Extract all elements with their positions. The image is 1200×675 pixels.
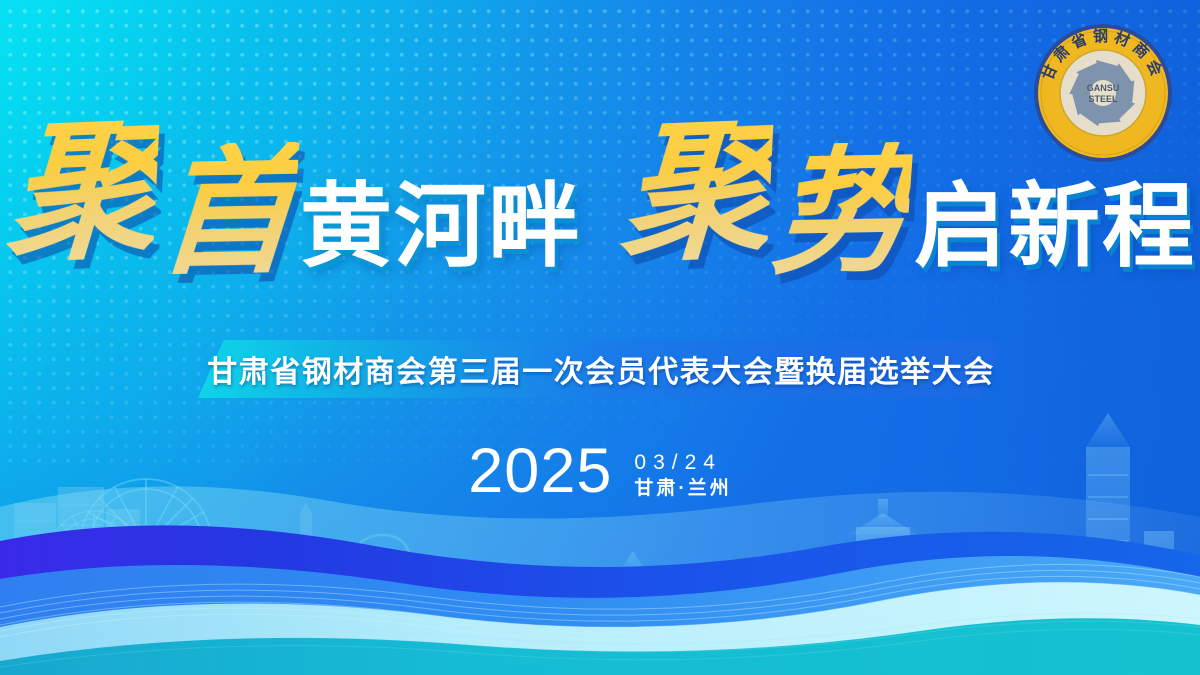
headline-calligraphy-2b: 势	[764, 142, 914, 282]
headline-block-2: 启新程	[914, 181, 1196, 273]
headline-calligraphy-1a: 聚	[0, 114, 160, 270]
headline: 聚 首 黄河畔 聚 势 启新程	[0, 72, 1200, 312]
event-location: 甘肃·兰州	[634, 479, 731, 498]
event-date-block: 2025 03/24 甘肃·兰州	[0, 440, 1200, 503]
headline-phrase-2: 聚 势 启新程	[618, 117, 1196, 267]
subtitle-text: 甘肃省钢材商会第三届一次会员代表大会暨换届选举大会	[198, 340, 1004, 398]
conference-poster: GANSU STEEL 甘肃省钢材商会 聚 首 黄河畔 聚 势 启新程 甘肃省钢…	[0, 0, 1200, 675]
event-year: 2025	[468, 440, 612, 503]
subtitle-banner: 甘肃省钢材商会第三届一次会员代表大会暨换届选举大会	[198, 340, 1004, 398]
headline-phrase-1: 聚 首 黄河畔	[4, 117, 582, 267]
event-date-details: 03/24 甘肃·兰州	[634, 446, 731, 498]
headline-block-1: 黄河畔	[300, 181, 582, 273]
headline-calligraphy-2a: 聚	[614, 114, 774, 270]
event-month-day: 03/24	[634, 452, 731, 473]
headline-calligraphy-1b: 首	[150, 142, 300, 282]
